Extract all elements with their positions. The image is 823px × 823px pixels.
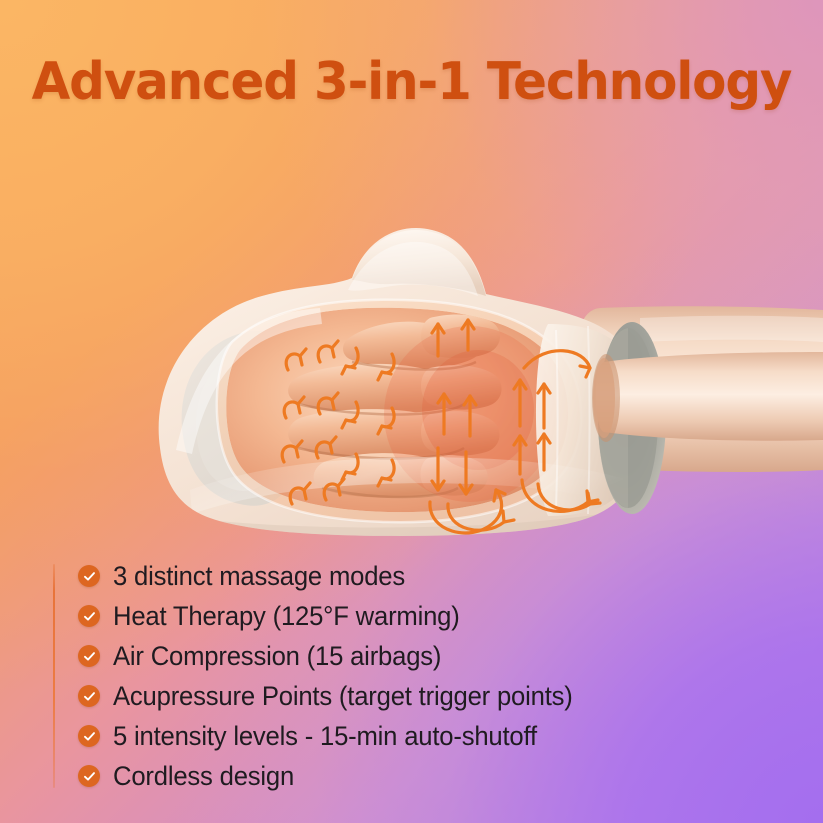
- check-circle-icon: [78, 685, 100, 707]
- page-title: Advanced 3-in-1 Technology: [16, 52, 806, 112]
- check-circle-icon: [78, 605, 100, 627]
- list-item: Air Compression (15 airbags): [53, 636, 753, 676]
- product-feature-card: Advanced 3-in-1 Technology: [0, 0, 823, 823]
- feature-label: 5 intensity levels - 15-min auto-shutoff: [113, 723, 537, 750]
- feature-list-rail: [53, 564, 55, 788]
- feature-label: Air Compression (15 airbags): [113, 643, 441, 670]
- feature-label: 3 distinct massage modes: [113, 563, 405, 590]
- feature-label: Cordless design: [113, 763, 294, 790]
- feature-label: Acupressure Points (target trigger point…: [113, 683, 573, 710]
- list-item: Acupressure Points (target trigger point…: [53, 676, 753, 716]
- check-circle-icon: [78, 765, 100, 787]
- check-circle-icon: [78, 725, 100, 747]
- hand-massager-illustration: [0, 118, 823, 558]
- feature-list: 3 distinct massage modes Heat Therapy (1…: [53, 556, 753, 796]
- list-item: 3 distinct massage modes: [53, 556, 753, 596]
- list-item: 5 intensity levels - 15-min auto-shutoff: [53, 716, 753, 756]
- feature-label: Heat Therapy (125°F warming): [113, 603, 460, 630]
- check-circle-icon: [78, 645, 100, 667]
- list-item: Cordless design: [53, 756, 753, 796]
- check-circle-icon: [78, 565, 100, 587]
- product-image: [0, 118, 823, 558]
- list-item: Heat Therapy (125°F warming): [53, 596, 753, 636]
